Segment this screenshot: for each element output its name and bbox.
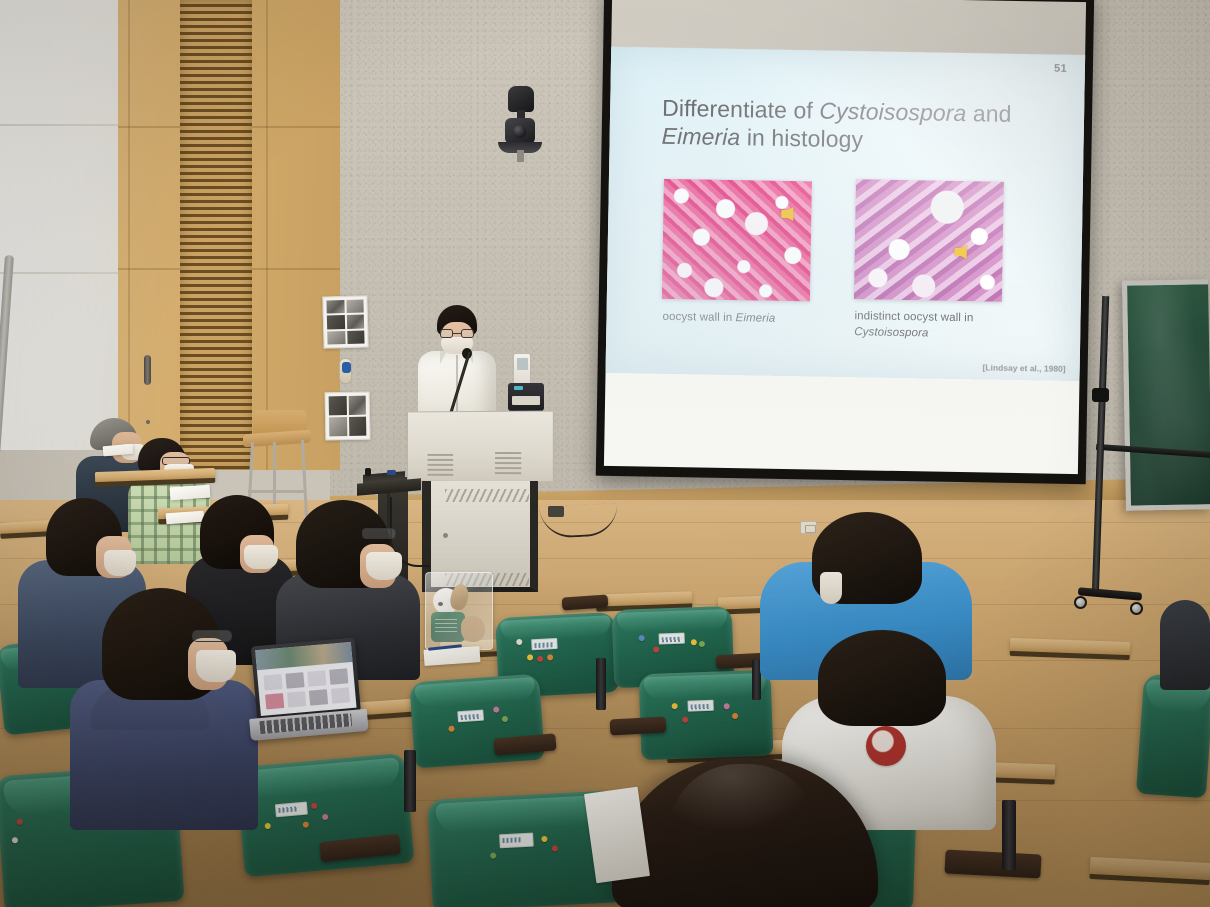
slide-reference-citation: [Lindsay et al., 1980] <box>982 362 1065 373</box>
louver-vent <box>180 0 252 470</box>
lens-left <box>440 329 453 338</box>
gift-bag-wrap <box>425 572 493 650</box>
lecture-hall-screenshot: 51 Differentiate of Cystoisospora andEim… <box>0 0 1210 907</box>
thumbnail <box>287 691 306 708</box>
caster-wheel <box>1130 602 1143 615</box>
door-handle[interactable] <box>144 355 151 385</box>
caption-genus: Eimeria <box>736 312 776 325</box>
wooden-door-wall <box>118 0 340 470</box>
glasses-icon <box>192 630 232 642</box>
projection-screen: 51 Differentiate of Cystoisospora andEim… <box>596 0 1095 484</box>
caption-text: indistinct oocyst wall in <box>854 310 973 324</box>
shirt-collar <box>440 351 447 364</box>
webpage-thumbnail-grid <box>263 668 350 709</box>
chair-armrest <box>944 850 1041 879</box>
screen-surface: 51 Differentiate of Cystoisospora andEim… <box>604 0 1086 474</box>
left-wall-panels <box>0 0 132 450</box>
height-clamp[interactable] <box>1092 388 1109 402</box>
thumbnail <box>331 687 350 704</box>
bridge <box>453 333 461 334</box>
histology-texture <box>854 179 1004 302</box>
wall-fixture <box>339 358 352 384</box>
glasses-icon <box>440 329 474 338</box>
histology-cystoisospora-image <box>854 179 1004 302</box>
chair-post <box>596 658 606 710</box>
thumbnail <box>307 670 326 687</box>
lecture-chair[interactable] <box>409 674 545 769</box>
slide-title-part: and <box>966 100 1012 127</box>
thumbnail <box>265 693 284 710</box>
lectern-vent <box>495 452 521 474</box>
chair-label-sticker <box>659 633 685 645</box>
poster-photo <box>327 331 345 345</box>
poster-photo <box>327 315 345 329</box>
slide-title-genus-cystoisospora: Cystoisospora <box>819 97 966 126</box>
lectern-vent <box>428 454 454 476</box>
laptop-screen[interactable] <box>255 642 356 716</box>
cabinet-vent <box>445 489 529 502</box>
slide-title: Differentiate of Cystoisospora andEimeri… <box>661 94 1042 157</box>
chalkboard-stand <box>1086 296 1116 626</box>
webpage-banner <box>255 642 352 670</box>
audience-foreground-long-hair <box>612 746 880 907</box>
rolling-chalkboard <box>1122 279 1210 510</box>
camera-lens <box>513 125 526 138</box>
yellow-arrow-icon <box>954 245 967 259</box>
slide-title-genus-eimeria: Eimeria <box>661 123 740 150</box>
presenter <box>412 305 502 417</box>
chair-post <box>404 750 416 812</box>
caption-text: oocyst wall in <box>662 311 735 324</box>
chalk-residue <box>1127 284 1210 505</box>
status-led-icon <box>514 386 523 390</box>
slide-title-part: Differentiate of <box>662 95 820 124</box>
face-mask <box>196 650 236 682</box>
av-knob[interactable] <box>365 468 371 476</box>
av-indicator <box>387 470 396 475</box>
face-mask <box>104 550 136 576</box>
face-mask <box>366 552 402 580</box>
stool-rung <box>248 490 306 493</box>
thumbnail <box>263 674 282 691</box>
person-hair <box>818 630 946 726</box>
cabinet-lock[interactable] <box>443 533 448 538</box>
wall-pipe <box>0 255 14 455</box>
wall-seam <box>0 124 132 126</box>
glasses-icon <box>362 528 396 539</box>
chair-post <box>1002 800 1016 870</box>
plush-toy-gift-bag <box>425 572 493 650</box>
camera-housing <box>508 86 534 112</box>
wall-poster-top <box>322 295 368 348</box>
face-mask <box>820 572 842 604</box>
chair-label-sticker <box>457 710 484 723</box>
thumbnail <box>309 689 328 706</box>
chair-label-sticker <box>531 638 558 650</box>
chair-label-sticker <box>499 833 534 849</box>
audience-navy-hoodie-front <box>70 588 260 828</box>
laptop-lid <box>251 638 361 721</box>
poster-photo <box>349 417 367 436</box>
histology-texture <box>662 179 812 302</box>
poster-photo <box>347 330 365 344</box>
thumbnail <box>285 672 304 689</box>
chair-label-sticker <box>275 802 308 818</box>
poster-photo <box>348 396 366 415</box>
poster-photo <box>346 300 364 314</box>
caption-genus: Cystoisospora <box>854 326 928 339</box>
poster-photo <box>329 417 347 436</box>
card-slot <box>512 396 540 405</box>
lens-right <box>461 329 474 338</box>
caption-left: oocyst wall in Eimeria <box>662 310 822 329</box>
open-laptop[interactable] <box>243 637 369 747</box>
chair-armrest <box>610 717 667 736</box>
yellow-arrow-icon <box>780 207 793 221</box>
presentation-slide: 51 Differentiate of Cystoisospora andEim… <box>606 47 1086 381</box>
desk-surface <box>596 591 692 607</box>
wall-poster-bottom <box>325 392 371 441</box>
caster-wheel <box>1074 596 1087 609</box>
panel-seam <box>266 0 268 470</box>
chair-rim <box>644 673 766 700</box>
ceiling-camera-icon <box>498 86 542 160</box>
lectern-top <box>407 411 554 483</box>
slide-title-part: in histology <box>740 124 863 152</box>
histology-eimeria-image <box>662 179 812 302</box>
face-mask <box>244 545 278 569</box>
poster-photo <box>329 396 347 415</box>
stand-post <box>1092 296 1109 596</box>
camera-stem <box>517 150 524 162</box>
panel-seam <box>128 0 130 470</box>
lecture-chair[interactable] <box>1136 674 1210 799</box>
desk-surface <box>1010 638 1130 656</box>
person-torso <box>1160 600 1210 690</box>
slide-page-number: 51 <box>1054 62 1067 74</box>
poster-photo <box>326 300 344 314</box>
wall-seam <box>0 272 132 274</box>
audience-right-edge <box>1160 560 1210 690</box>
card-reader-terminal[interactable] <box>508 383 544 411</box>
thumbnail <box>329 668 348 685</box>
chair-label-sticker <box>687 700 713 712</box>
caption-right: indistinct oocyst wall in Cystoisospora <box>854 309 1005 343</box>
poster-photo <box>346 315 364 329</box>
